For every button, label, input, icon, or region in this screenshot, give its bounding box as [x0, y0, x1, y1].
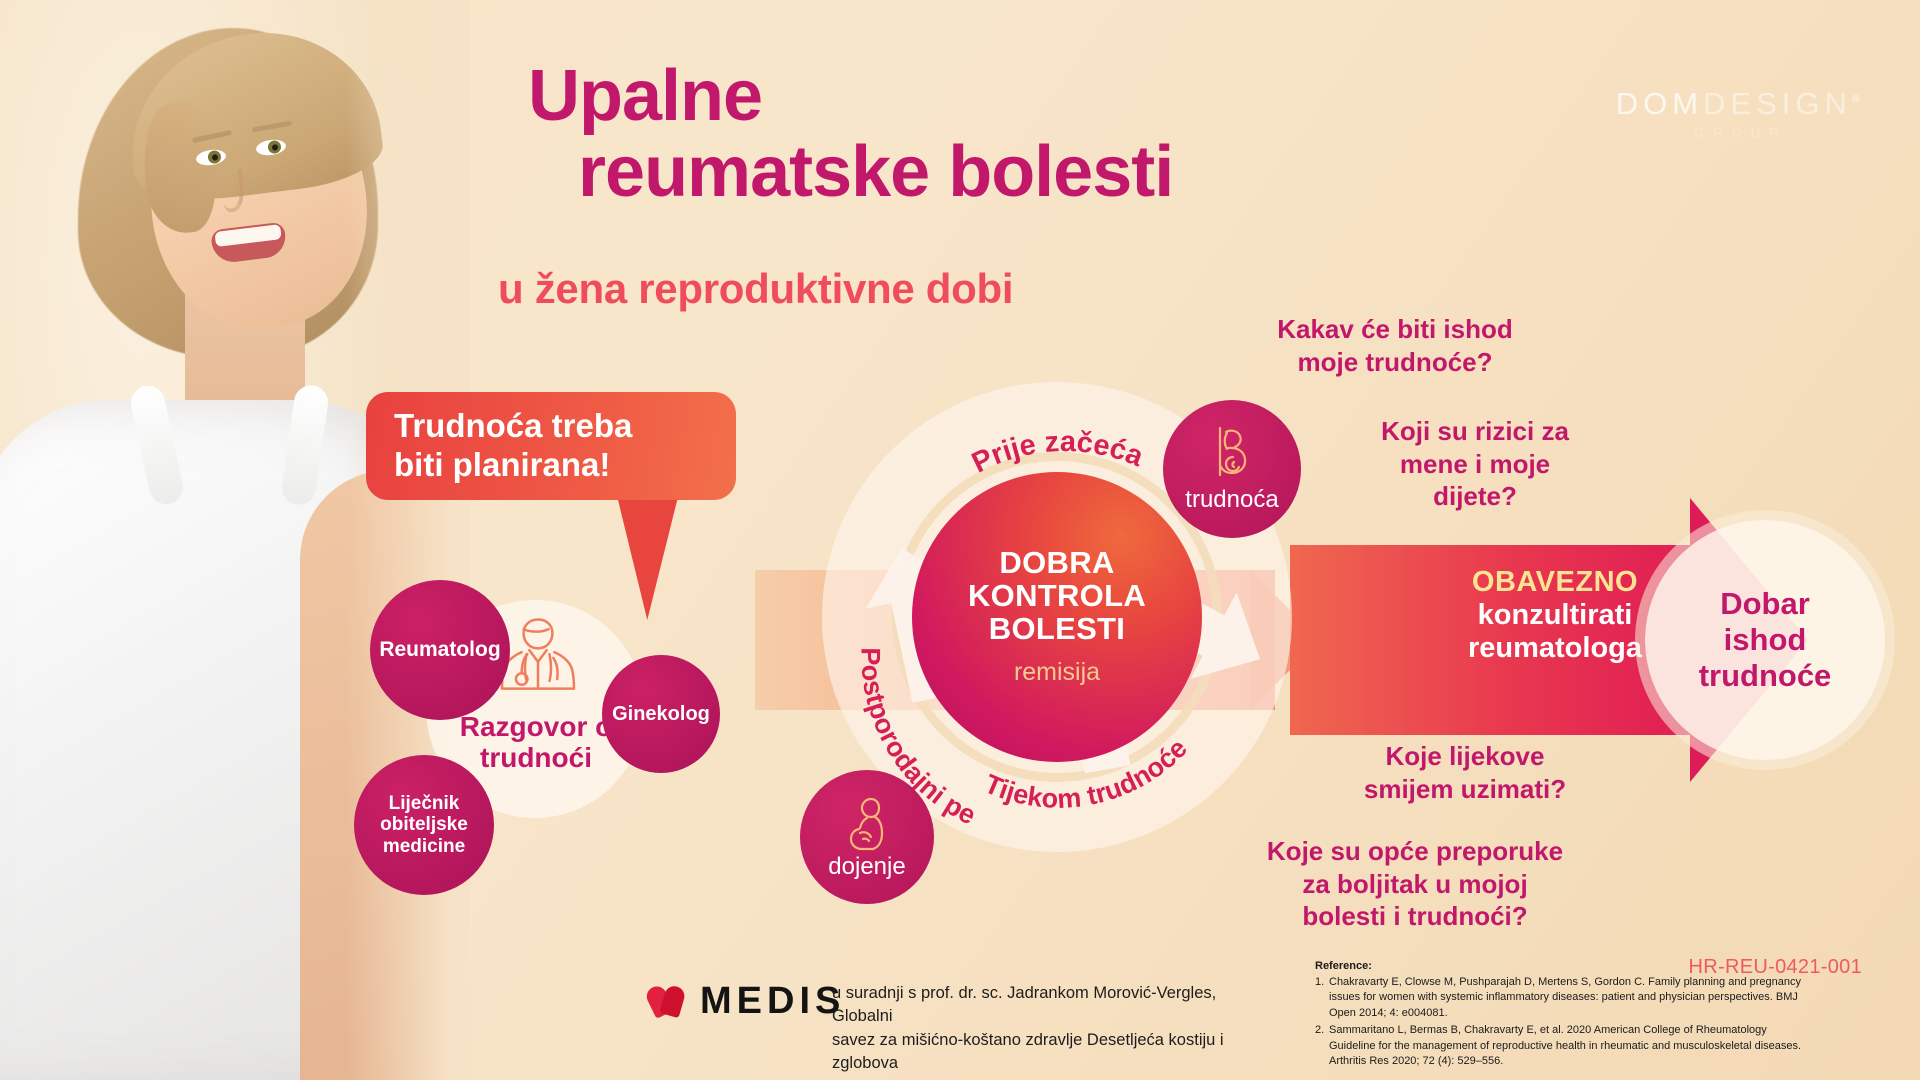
badge-dojenje: dojenje	[800, 770, 934, 904]
question-1-line-2: moje trudnoće?	[1230, 346, 1560, 379]
question-4-line-3: bolesti i trudnoći?	[1215, 900, 1615, 933]
circle-lijecnik-obiteljske-medicine: Liječnik obiteljske medicine	[354, 755, 494, 895]
badge-trudnoca-label: trudnoća	[1185, 486, 1278, 514]
speech-bubble-pregnancy-planned: Trudnoća treba biti planirana!	[366, 392, 736, 500]
question-4: Koje su opće preporuke za boljitak u moj…	[1215, 835, 1615, 933]
cta-highlight: OBAVEZNO	[1420, 566, 1690, 599]
pregnancy-icon	[1206, 424, 1258, 484]
cycle-core-title: DOBRA KONTROLA BOLESTI	[968, 547, 1146, 646]
credit-line-1: u suradnji s prof. dr. sc. Jadrankom Mor…	[832, 982, 1252, 1029]
question-2-line-3: dijete?	[1330, 480, 1620, 513]
heart-icon	[648, 983, 686, 1021]
circle-reumatolog: Reumatolog	[370, 580, 510, 720]
outcome-circle: Dobar ishod trudnoće	[1645, 520, 1885, 760]
reference-code: HR-REU-0421-001	[1689, 956, 1862, 979]
core-line-2: KONTROLA	[968, 580, 1146, 613]
domdesign-logo-tagline: GROUP	[1616, 125, 1865, 140]
reference-item: Sammaritano L, Bermas B, Chakravarty E, …	[1315, 1023, 1815, 1069]
credit-line-2: savez za mišićno-koštano zdravlje Desetl…	[832, 1029, 1252, 1076]
speech-bubble-line-2: biti planirana!	[394, 446, 632, 485]
core-line-1: DOBRA	[968, 547, 1146, 580]
page-title: Upalne reumatske bolesti	[520, 62, 1380, 208]
question-1-line-1: Kakav će biti ishod	[1230, 313, 1560, 346]
doctor-label-line-1: Razgovor o	[416, 712, 656, 743]
speech-bubble-line-1: Trudnoća treba	[394, 407, 632, 446]
question-4-line-2: za boljitak u mojoj	[1215, 868, 1615, 901]
question-3: Koje lijekove smijem uzimati?	[1300, 740, 1630, 805]
outcome-line-1: Dobar	[1699, 586, 1832, 622]
question-3-line-2: smijem uzimati?	[1300, 773, 1630, 806]
badge-trudnoca: trudnoća	[1163, 400, 1301, 538]
question-1: Kakav će biti ishod moje trudnoće?	[1230, 313, 1560, 378]
circle-lijecnik-label: Liječnik obiteljske medicine	[362, 793, 486, 857]
medis-logo: MEDIS	[648, 980, 845, 1023]
cycle-core-subtitle: remisija	[1014, 658, 1100, 687]
doctor-label-line-2: trudnoći	[416, 743, 656, 774]
references-list: Chakravarty E, Clowse M, Pushparajah D, …	[1315, 975, 1815, 1069]
core-line-3: BOLESTI	[968, 613, 1146, 646]
page-subtitle: u žena reproduktivne dobi	[498, 265, 1198, 313]
question-2-line-1: Koji su rizici za	[1330, 415, 1620, 448]
question-3-line-1: Koje lijekove	[1300, 740, 1630, 773]
question-2-line-2: mene i moje	[1330, 448, 1620, 481]
collaboration-credit: u suradnji s prof. dr. sc. Jadrankom Mor…	[832, 982, 1252, 1076]
circle-reumatolog-label: Reumatolog	[379, 638, 500, 662]
outcome-text: Dobar ishod trudnoće	[1699, 586, 1832, 694]
domdesign-logo-main: DOMDESIGN®	[1616, 86, 1865, 122]
question-2: Koji su rizici za mene i moje dijete?	[1330, 415, 1620, 513]
domdesign-logo-part2: DESIGN	[1703, 86, 1852, 121]
badge-dojenje-label: dojenje	[828, 853, 905, 881]
portrait-fade	[346, 0, 470, 1080]
outcome-line-3: trudnoće	[1699, 658, 1832, 694]
title-line-2: reumatske bolesti	[520, 138, 1380, 208]
title-line-1: Upalne	[520, 62, 1380, 132]
registered-mark: ®	[1852, 94, 1865, 106]
question-4-line-1: Koje su opće preporuke	[1215, 835, 1615, 868]
medis-logo-text: MEDIS	[700, 980, 845, 1023]
outcome-line-2: ishod	[1699, 622, 1832, 658]
domdesign-logo-part1: DOM	[1616, 86, 1703, 121]
cycle-core: DOBRA KONTROLA BOLESTI remisija	[912, 472, 1202, 762]
doctor-cluster-label: Razgovor o trudnoći	[416, 712, 656, 774]
reference-item: Chakravarty E, Clowse M, Pushparajah D, …	[1315, 975, 1815, 1021]
domdesign-logo: DOMDESIGN® GROUP	[1616, 86, 1865, 140]
portrait-photo	[0, 0, 470, 1080]
breastfeeding-icon	[841, 793, 893, 851]
speech-bubble-text: Trudnoća treba biti planirana!	[394, 407, 632, 485]
